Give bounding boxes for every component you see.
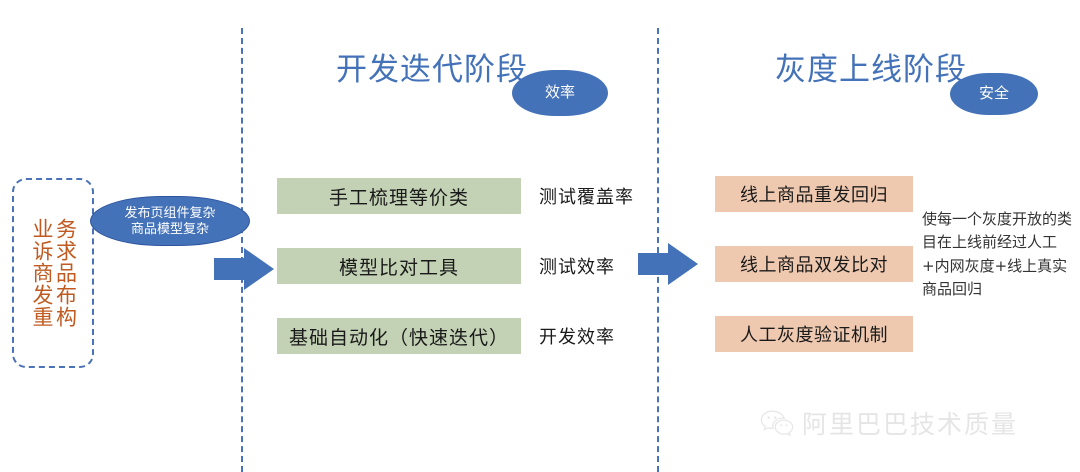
problem-cloud-line-1: 发布页组件复杂: [124, 205, 215, 221]
gray-item-label-2: 线上商品双发比对: [740, 251, 888, 277]
watermark: 阿里巴巴技术质量: [760, 405, 1018, 441]
gray-item-row-3: 人工灰度验证机制: [715, 316, 913, 352]
diagram-canvas: 务求品布构 业诉商发重 发布页组件复杂 商品模型复杂 开发迭代阶段 效率 手工梳…: [0, 0, 1080, 472]
dev-item-row-2: 模型比对工具: [277, 248, 521, 284]
arrow-head: [668, 243, 698, 285]
gray-item-label-1: 线上商品重发回归: [740, 181, 888, 207]
gray-stage-note: 使每一个灰度开放的类目在上线前经过人工+内网灰度+线上真实商品回归: [922, 208, 1074, 301]
problem-cloud: 发布页组件复杂 商品模型复杂: [90, 196, 250, 246]
arrow-head: [244, 248, 274, 290]
flow-arrow-2: [638, 243, 700, 285]
stage-title-gray: 灰度上线阶段: [775, 44, 967, 89]
gray-item-row-2: 线上商品双发比对: [715, 246, 913, 282]
dev-item-label-3: 基础自动化（快速迭代）: [289, 323, 509, 350]
dev-item-label-1: 手工梳理等价类: [329, 183, 469, 210]
dev-metric-1: 测试覆盖率: [539, 178, 649, 214]
dev-metric-3: 开发效率: [539, 318, 649, 354]
problem-cloud-line-2: 商品模型复杂: [131, 221, 209, 237]
dev-item-label-2: 模型比对工具: [339, 253, 459, 280]
gray-item-label-3: 人工灰度验证机制: [740, 321, 888, 347]
arrow-shaft: [638, 253, 672, 275]
arrow-shaft: [214, 258, 248, 280]
flow-arrow-1: [214, 248, 276, 290]
business-requirement-text: 务求品布构 业诉商发重: [12, 178, 94, 368]
dev-item-row-1: 手工梳理等价类: [277, 178, 521, 214]
biz-text-column-left: 业诉商发重: [29, 218, 53, 328]
security-cloud: 安全: [950, 73, 1038, 115]
stage-title-dev: 开发迭代阶段: [336, 44, 528, 89]
security-cloud-label: 安全: [979, 85, 1009, 104]
efficiency-cloud-label: 效率: [545, 84, 575, 103]
dev-metric-2: 测试效率: [539, 248, 649, 284]
watermark-text: 阿里巴巴技术质量: [802, 405, 1018, 441]
biz-text-column-right: 务求品布构: [53, 218, 77, 328]
gray-item-row-1: 线上商品重发回归: [715, 176, 913, 212]
efficiency-cloud: 效率: [512, 70, 608, 116]
dev-item-row-3: 基础自动化（快速迭代）: [277, 318, 521, 354]
wechat-icon: [760, 410, 794, 436]
